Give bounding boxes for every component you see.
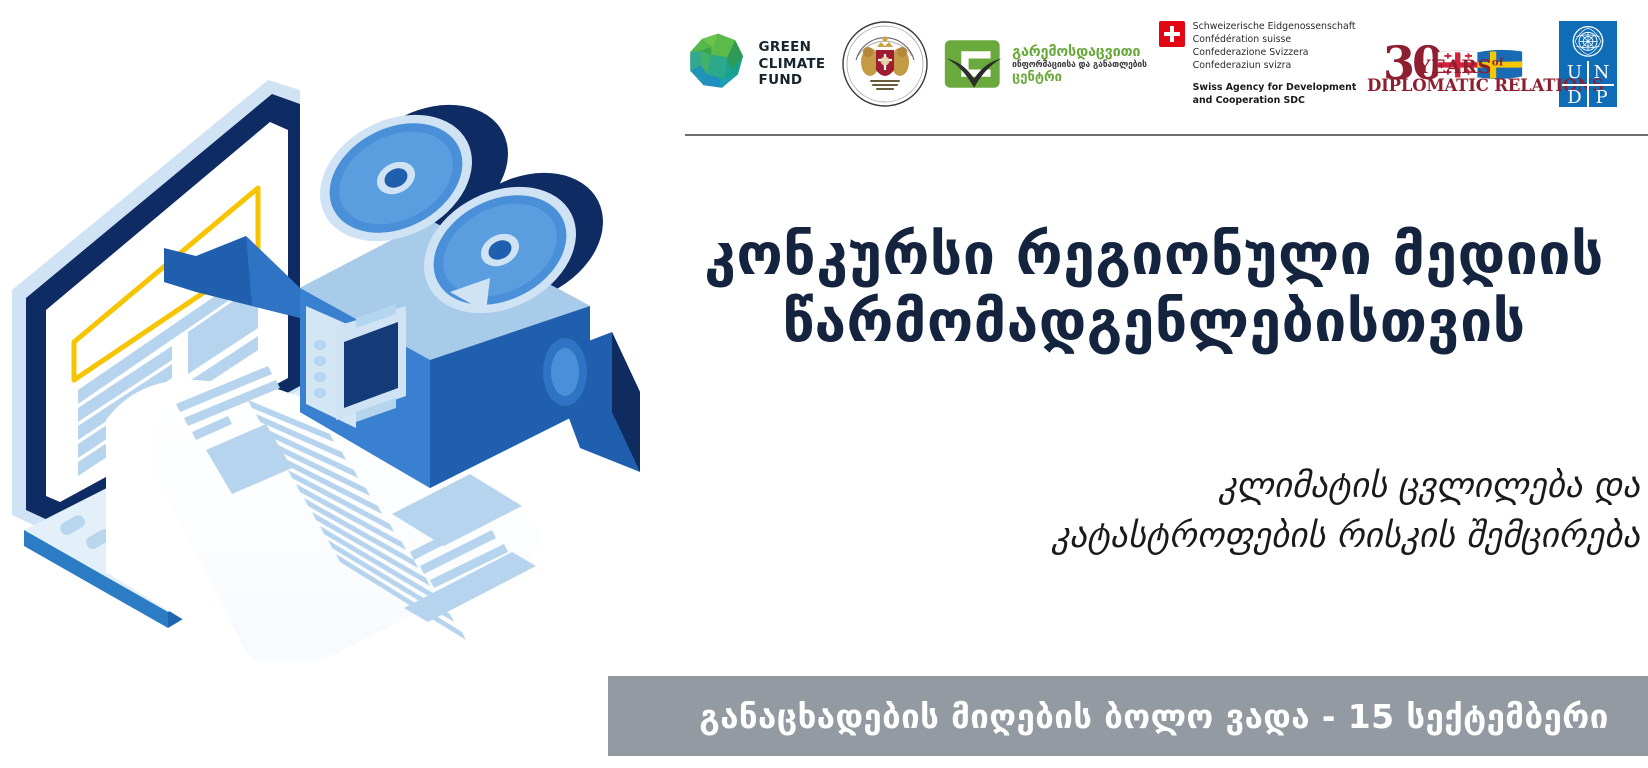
gcf-line-2: CLIMATE	[759, 56, 826, 72]
gcf-line-1: GREEN	[759, 39, 826, 55]
sdc-wordmark: Schweizerische Eidgenossenschaft Confédé…	[1193, 21, 1357, 108]
header-divider	[685, 134, 1648, 136]
sdc-line-2: Confédération suisse	[1193, 34, 1357, 47]
eiec-wordmark: გარემოსდაცვითი ინფორმაციისა და განათლები…	[1012, 45, 1147, 84]
page-subtitle: კლიმატის ცვლილება და კატასტროფების რისკი…	[640, 462, 1648, 561]
laptop-newspaper-film-camera-illustration	[0, 60, 700, 660]
eiec-line-2: ინფორმაციისა და განათლების	[1012, 61, 1147, 70]
deadline-banner: განაცხადების მიღების ბოლო ვადა - 15 სექტ…	[608, 676, 1648, 756]
subtitle-line-1: კლიმატის ცვლილება და	[640, 462, 1640, 512]
sdc-line-1: Schweizerische Eidgenossenschaft	[1193, 21, 1357, 34]
gcf-globe-icon	[685, 31, 751, 97]
sdc-bold-2: and Cooperation SDC	[1193, 95, 1357, 108]
page-title: კონკურსი რეგიონული მედიის წარმომადგენლებ…	[660, 222, 1648, 357]
environmental-information-education-centre-logo: გარემოსდაცვითი ინფორმაციისა და განათლები…	[940, 24, 1150, 104]
gcf-wordmark: GREEN CLIMATE FUND	[759, 39, 826, 88]
undp-letter-d: D	[1562, 86, 1587, 109]
eiec-line-1: გარემოსდაცვითი	[1012, 45, 1147, 60]
sdc-line-4: Confederaziun svizra	[1193, 60, 1357, 73]
swiss-cross-icon	[1159, 21, 1185, 47]
sdc-line-3: Confederazione Svizzera	[1193, 47, 1357, 60]
national-environmental-agency-logo	[830, 14, 940, 114]
undp-letter-p: P	[1589, 86, 1614, 109]
eiec-line-3: ცენტრი	[1012, 71, 1147, 84]
undp-letter-grid: U N D P	[1562, 61, 1614, 107]
logo-strip: GREEN CLIMATE FUND	[680, 8, 1648, 120]
undp-box: U N D P	[1559, 21, 1617, 107]
green-climate-fund-logo: GREEN CLIMATE FUND	[680, 16, 830, 112]
thirty-years-diplomatic-relations-logo: 30	[1365, 18, 1545, 110]
nea-seal-icon	[830, 14, 940, 114]
headline-line-1: კონკურსი რეგიონული მედიის	[660, 222, 1648, 289]
undp-letter-u: U	[1562, 61, 1587, 84]
gcf-line-3: FUND	[759, 72, 826, 88]
undp-logo: U N D P	[1545, 16, 1631, 112]
deadline-text: განაცხადების მიღების ბოლო ვადა - 15 სექტ…	[699, 697, 1608, 736]
sdc-bold-1: Swiss Agency for Development	[1193, 82, 1357, 95]
eiec-book-icon	[943, 34, 1007, 94]
un-emblem-icon	[1571, 25, 1605, 58]
headline-line-2: წარმომადგენლებისთვის	[660, 289, 1648, 356]
poster-root: GREEN CLIMATE FUND	[0, 0, 1648, 768]
swiss-cooperation-logo: Schweizerische Eidgenossenschaft Confédé…	[1150, 7, 1365, 121]
subtitle-line-2: კატასტროფების რისკის შემცირება	[640, 512, 1640, 562]
anniversary-years: YEARSof	[1417, 56, 1504, 78]
undp-letter-n: N	[1589, 61, 1614, 84]
